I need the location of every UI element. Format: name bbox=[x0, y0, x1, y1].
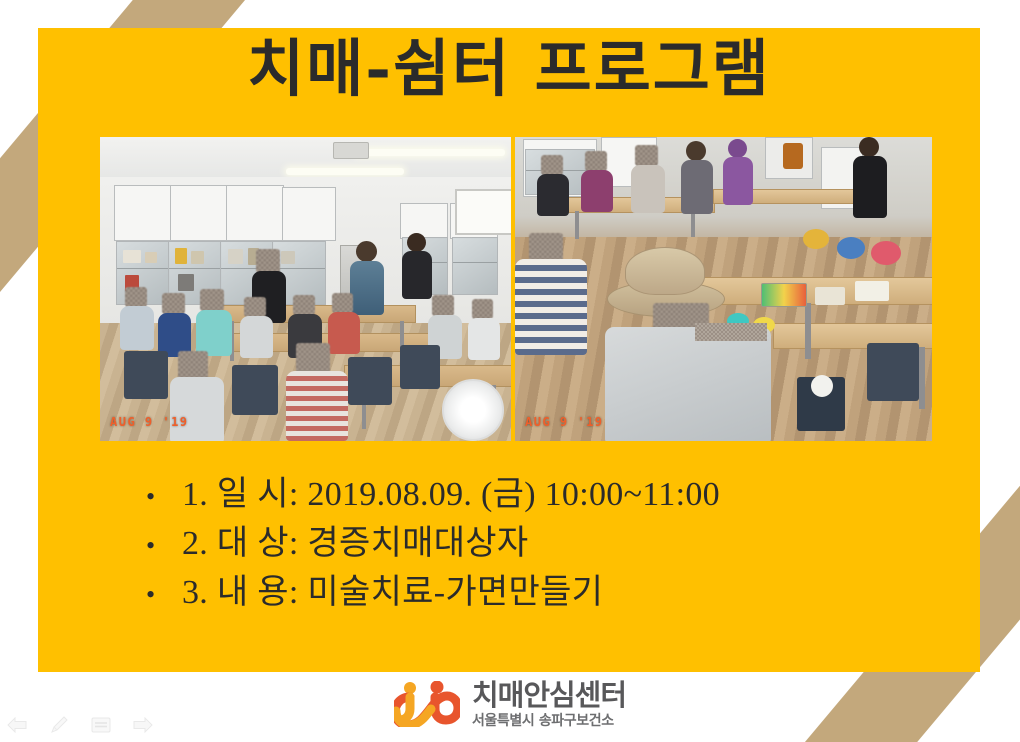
craft-item bbox=[837, 237, 865, 259]
torso bbox=[681, 160, 713, 214]
list-item: • 2. 대 상: 경증치매대상자 bbox=[146, 515, 906, 564]
bullet-marker-icon: • bbox=[146, 533, 182, 559]
head bbox=[686, 141, 706, 161]
list-item-text: 1. 일 시: 2019.08.09. (금) 10:00~11:00 bbox=[182, 466, 720, 515]
torso bbox=[537, 174, 569, 216]
logo-subtitle: 서울특별시 송파구보건소 bbox=[472, 714, 626, 728]
table-leg bbox=[691, 211, 695, 237]
logo-title: 치매안심센터 bbox=[472, 681, 626, 710]
ceiling-light bbox=[355, 149, 505, 156]
list-item-text: 2. 대 상: 경증치매대상자 bbox=[182, 515, 528, 564]
photo-date-stamp: AUG 9 '19 bbox=[525, 415, 604, 429]
blurred-face bbox=[472, 299, 493, 319]
craft-paper bbox=[815, 287, 845, 305]
torso bbox=[196, 310, 232, 356]
blurred-face bbox=[332, 293, 353, 313]
cabinet bbox=[114, 185, 172, 241]
list-item-text: 3. 내 용: 미술치료-가면만들기 bbox=[182, 564, 603, 613]
torso bbox=[468, 318, 500, 360]
projector-icon bbox=[333, 142, 369, 159]
glass-cabinet bbox=[452, 237, 498, 295]
blurred-face bbox=[529, 233, 563, 261]
torso bbox=[170, 377, 224, 441]
torso bbox=[581, 170, 613, 212]
bullet-marker-icon: • bbox=[146, 582, 182, 608]
cabinet bbox=[282, 187, 336, 241]
blurred-face bbox=[541, 155, 563, 175]
dementia-center-logo-icon bbox=[394, 681, 460, 727]
chair bbox=[348, 357, 392, 405]
blurred-face bbox=[200, 289, 224, 311]
torso bbox=[328, 312, 360, 354]
craft-palette bbox=[761, 283, 807, 307]
photo-date-stamp: AUG 9 '19 bbox=[110, 415, 189, 429]
torso bbox=[723, 157, 753, 205]
previous-arrow-icon[interactable] bbox=[4, 714, 30, 736]
blurred-face bbox=[293, 295, 315, 315]
logo-text-block: 치매안심센터 서울특별시 송파구보건소 bbox=[472, 681, 626, 728]
torso bbox=[402, 251, 432, 299]
torso bbox=[515, 259, 587, 355]
blurred-face bbox=[256, 249, 280, 273]
object bbox=[811, 375, 833, 397]
list-item: • 1. 일 시: 2019.08.09. (금) 10:00~11:00 bbox=[146, 466, 906, 515]
slide-menu-icon[interactable] bbox=[88, 714, 114, 736]
blurred-face bbox=[585, 151, 607, 171]
blurred-face bbox=[244, 297, 266, 317]
head bbox=[356, 241, 377, 262]
torso bbox=[286, 371, 348, 441]
blurred-face bbox=[296, 343, 330, 373]
blurred-face bbox=[125, 287, 147, 307]
table-leg bbox=[575, 211, 579, 239]
craft-paper bbox=[855, 281, 889, 301]
head bbox=[859, 137, 879, 157]
bullet-marker-icon: • bbox=[146, 484, 182, 510]
presentation-slide: 치매-쉼터 프로그램 bbox=[0, 0, 1020, 742]
head bbox=[728, 139, 747, 158]
head bbox=[407, 233, 426, 252]
craft-item bbox=[871, 241, 901, 265]
whiteboard bbox=[455, 189, 511, 235]
blurred-face bbox=[432, 295, 454, 316]
chair bbox=[124, 351, 168, 399]
pen-icon[interactable] bbox=[46, 714, 72, 736]
table-leg bbox=[919, 347, 925, 409]
blurred-face bbox=[635, 145, 658, 166]
photo-classroom-left: AUG 9 '19 bbox=[100, 137, 511, 441]
photo-row: AUG 9 '19 bbox=[100, 137, 932, 441]
object bbox=[783, 143, 803, 169]
blurred-face bbox=[162, 293, 185, 314]
torso bbox=[240, 316, 273, 358]
craft-item bbox=[803, 229, 829, 249]
torso bbox=[120, 306, 154, 350]
cabinet bbox=[400, 203, 448, 239]
list-item: • 3. 내 용: 미술치료-가면만들기 bbox=[146, 564, 906, 613]
next-arrow-icon[interactable] bbox=[130, 714, 156, 736]
cabinet bbox=[226, 185, 284, 241]
photo-classroom-right: AUG 9 '19 bbox=[515, 137, 932, 441]
chair bbox=[400, 345, 440, 389]
chair bbox=[232, 365, 278, 415]
electric-fan bbox=[442, 379, 504, 441]
page-title: 치매-쉼터 프로그램 bbox=[38, 34, 980, 103]
chair bbox=[867, 343, 919, 401]
torso bbox=[350, 261, 384, 315]
cabinet bbox=[170, 185, 228, 241]
hat bbox=[625, 247, 705, 295]
torso bbox=[605, 327, 771, 441]
bullet-list: • 1. 일 시: 2019.08.09. (금) 10:00~11:00 • … bbox=[146, 466, 906, 613]
torso bbox=[853, 156, 887, 218]
blurred-region bbox=[695, 323, 767, 341]
table-leg bbox=[805, 303, 811, 359]
torso bbox=[631, 165, 665, 213]
blurred-face bbox=[178, 351, 208, 379]
slideshow-toolbar bbox=[4, 712, 156, 738]
ceiling-light bbox=[286, 168, 404, 175]
